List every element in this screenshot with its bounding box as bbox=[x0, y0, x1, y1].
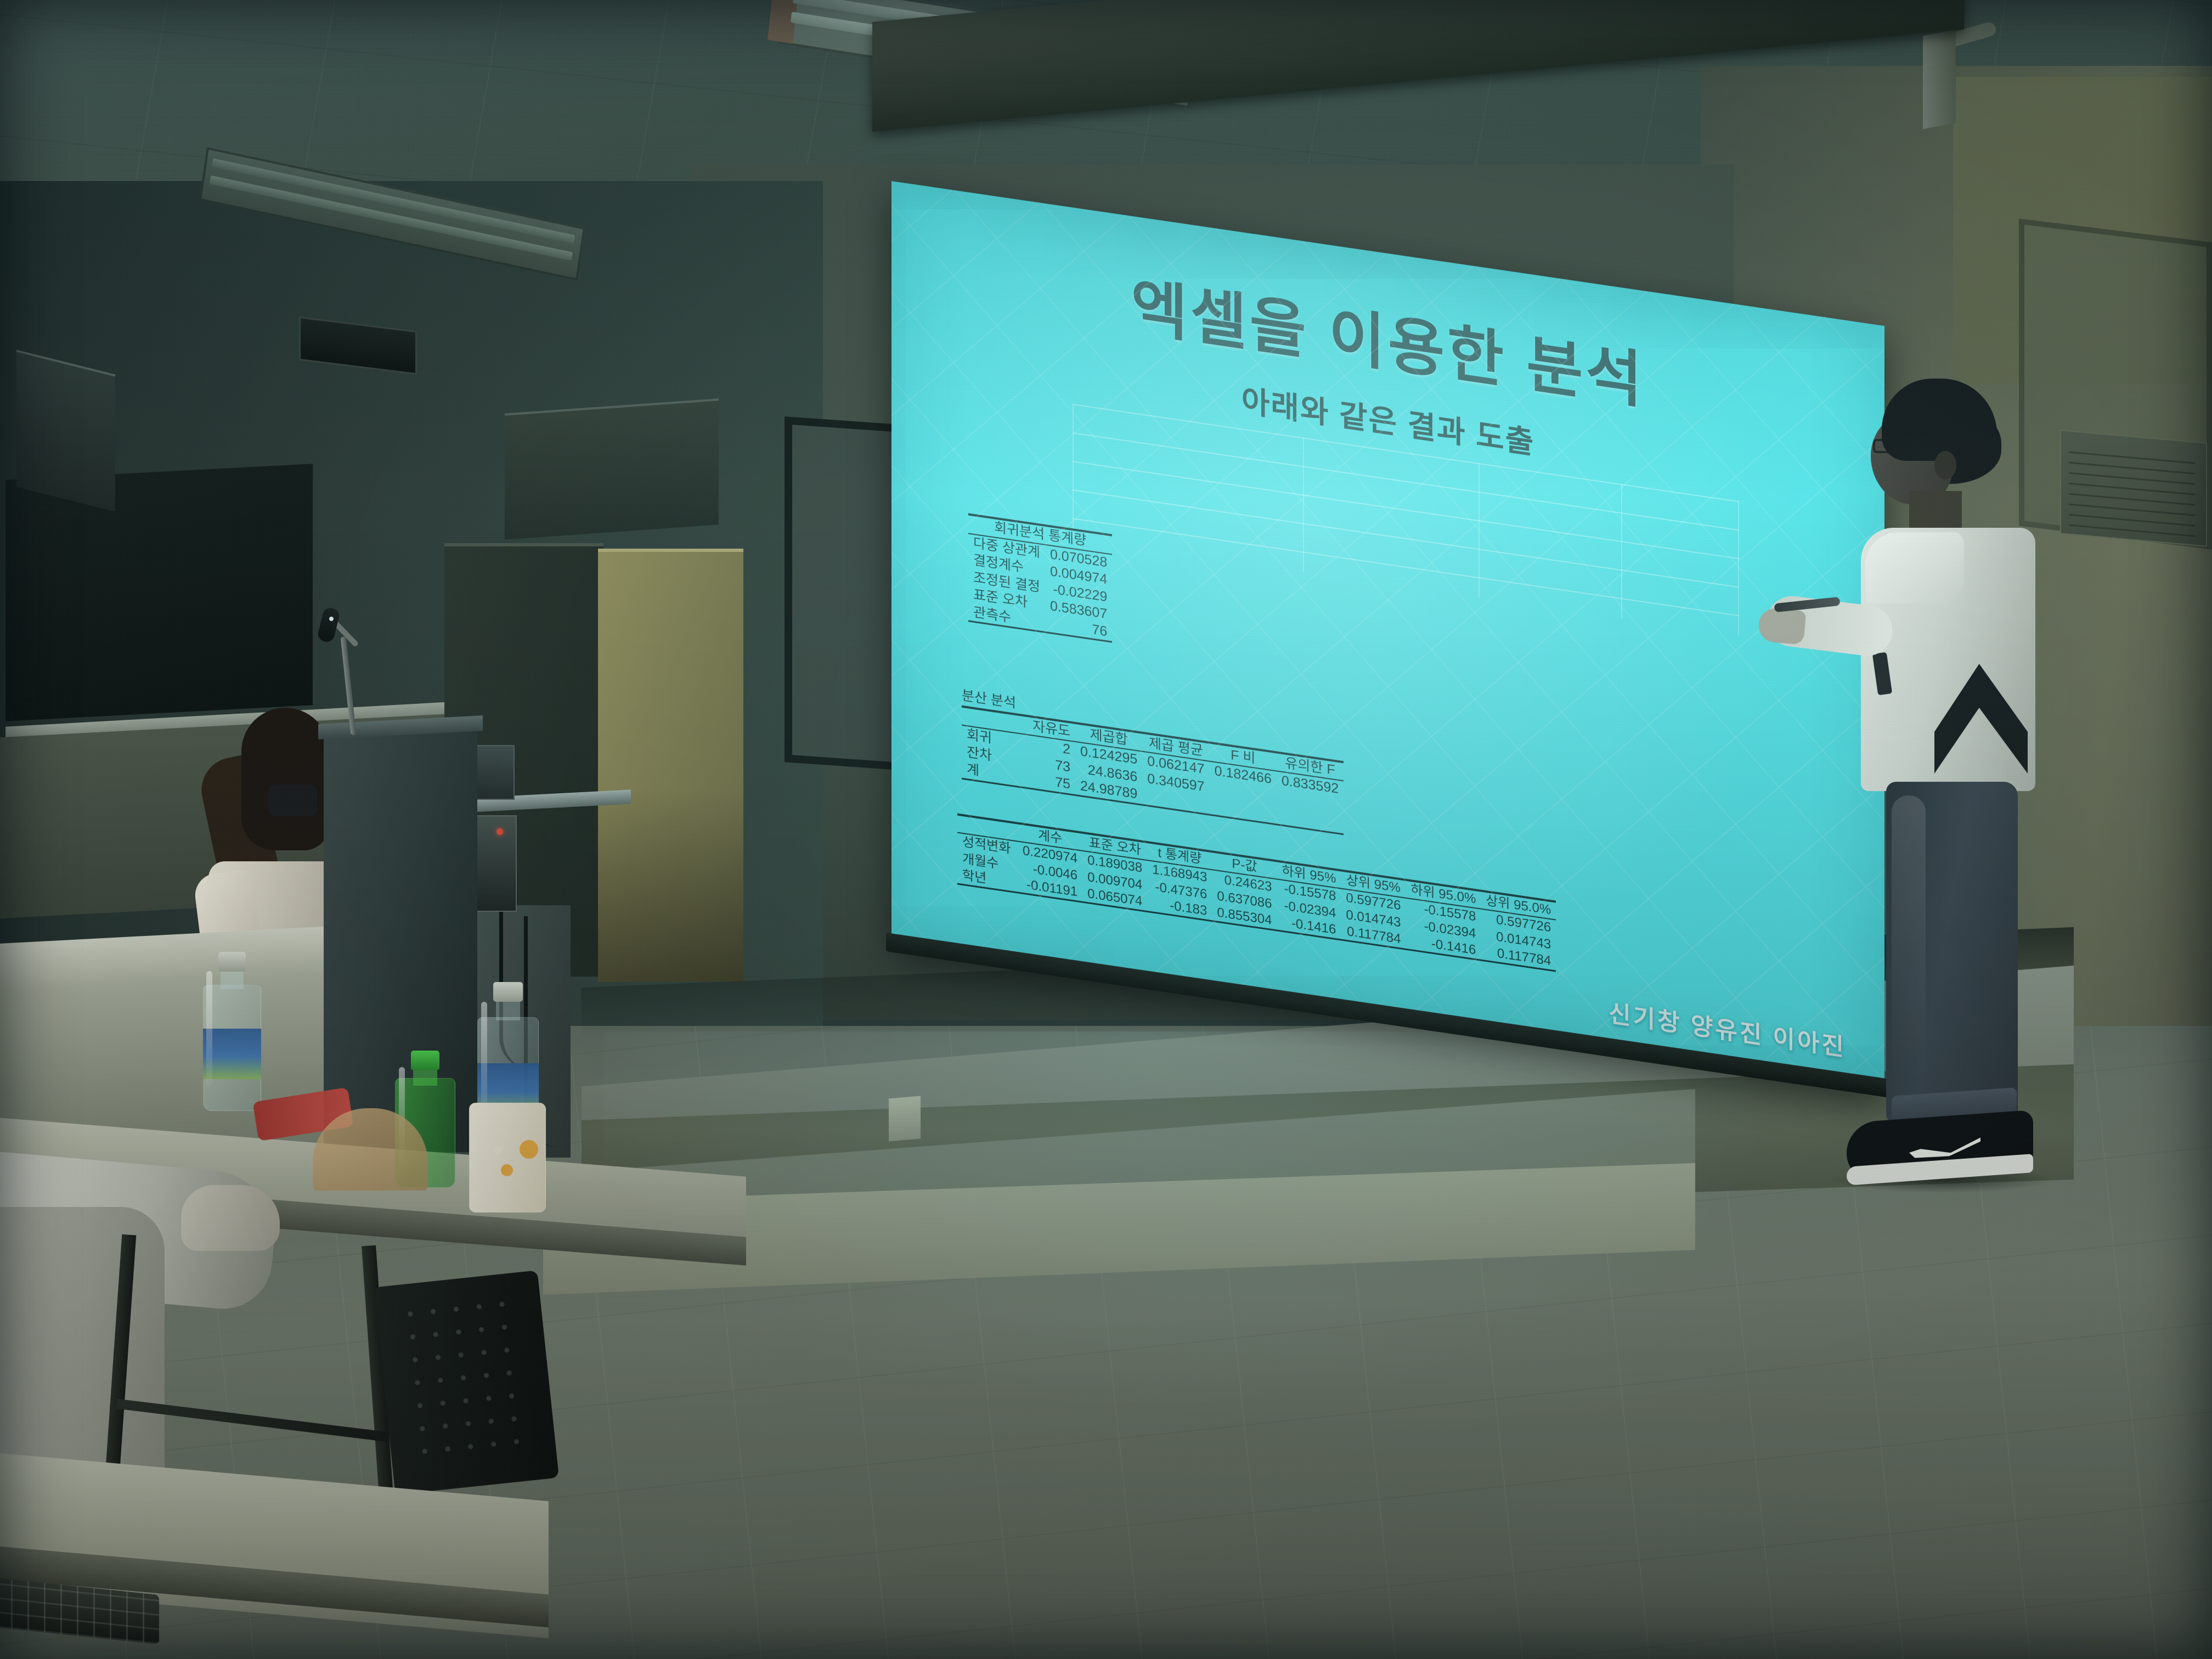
bottle-cap[interactable] bbox=[411, 1051, 440, 1070]
floor-light-reflection bbox=[603, 1031, 1810, 1426]
window-blinds-right[interactable] bbox=[505, 398, 719, 539]
presenter-shoulder-highlight bbox=[1865, 532, 1964, 603]
juice-label-dot bbox=[520, 1140, 538, 1159]
bottle-cap[interactable] bbox=[493, 982, 523, 1002]
face-mask-icon bbox=[268, 785, 317, 816]
bottle-neck bbox=[221, 970, 244, 989]
seated-person-hair bbox=[241, 708, 329, 850]
grid-line-v bbox=[1621, 484, 1622, 618]
presenter-ear bbox=[1934, 451, 1956, 479]
wall-notice bbox=[2060, 430, 2207, 546]
presenter-jeans-highlight bbox=[1892, 795, 1926, 1081]
presenter-hair bbox=[1882, 379, 1997, 461]
window-glass bbox=[5, 464, 313, 721]
projected-slide: 엑셀을 이용한 분석 아래와 같은 결과 도출 bbox=[891, 181, 1884, 1088]
microphone-glint bbox=[329, 617, 334, 621]
bottle-neck bbox=[496, 1002, 521, 1020]
cabinet-shading bbox=[598, 552, 743, 982]
desk-crossbar bbox=[116, 1399, 389, 1442]
bottle-body bbox=[469, 1103, 546, 1212]
coefficients-table: 계수 표준 오차 t 통계량 P-값 하위 95% 상위 95% 하위 95.0… bbox=[957, 814, 1556, 972]
grid-line-v bbox=[1073, 404, 1074, 538]
grid-line-v bbox=[1479, 463, 1480, 597]
classroom-photo: 엑셀을 이용한 분석 아래와 같은 결과 도출 bbox=[0, 0, 2212, 1659]
grid-line-h bbox=[1073, 518, 1739, 616]
window-blinds-left[interactable] bbox=[16, 350, 115, 512]
student-presenter bbox=[1827, 379, 2057, 1201]
grid-line-v bbox=[1738, 501, 1739, 635]
screen-wall-mount bbox=[1923, 30, 1956, 129]
juice-label-dot bbox=[493, 1145, 502, 1154]
water-bottle[interactable] bbox=[203, 952, 261, 1111]
notice-text-lines bbox=[2069, 444, 2195, 537]
projector-screen: 엑셀을 이용한 분석 아래와 같은 결과 도출 bbox=[891, 181, 1884, 1088]
grid-line-h bbox=[1073, 489, 1739, 588]
slide-content: 엑셀을 이용한 분석 아래와 같은 결과 도출 bbox=[891, 181, 1884, 1088]
anova-table: 분산 분석 자유도 제곱합 제곱 평균 F 비 유의한 F 회귀 2 bbox=[962, 688, 1344, 835]
grid-line-v bbox=[1303, 437, 1304, 572]
bottle-highlight bbox=[206, 971, 212, 1086]
juice-label-dot bbox=[501, 1164, 513, 1176]
bottle-cap[interactable] bbox=[218, 952, 246, 972]
tall-cabinet-yellow[interactable] bbox=[598, 549, 743, 982]
power-led-indicator bbox=[496, 828, 503, 835]
chair-perforations bbox=[398, 1292, 524, 1467]
regression-statistics-table: 회귀분석 통계량 다중 상관계 0.070528 결정계수 0.004974 조… bbox=[968, 513, 1112, 642]
juice-bottle[interactable] bbox=[469, 1075, 546, 1212]
